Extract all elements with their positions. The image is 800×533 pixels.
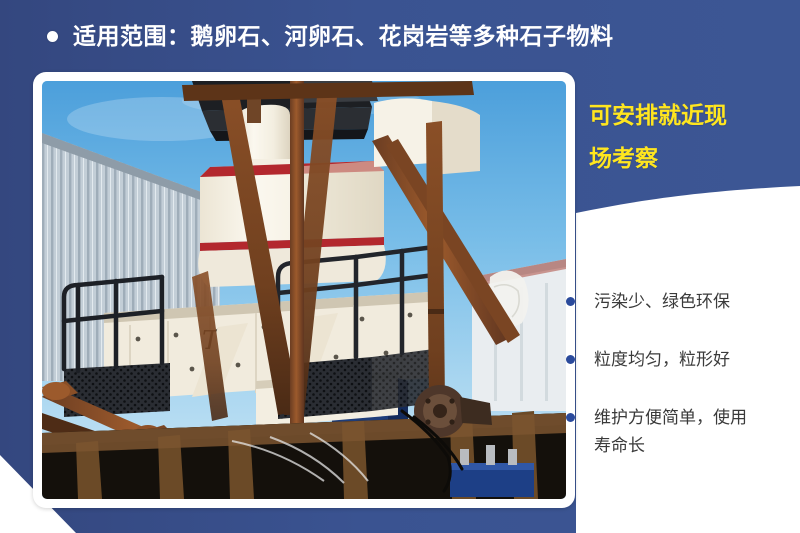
promo-line-2: 场考察: [589, 137, 794, 180]
list-item: 粒度均匀，粒形好: [566, 346, 798, 374]
site-photo: T: [42, 81, 566, 499]
dot-bullet-icon: [566, 355, 575, 364]
promo-line-1: 可安排就近现: [589, 94, 794, 137]
photo-card: T: [33, 72, 575, 508]
dot-bullet-icon: [47, 31, 58, 42]
feature-list: 污染少、绿色环保 粒度均匀，粒形好 维护方便简单，使用 寿命长: [566, 288, 798, 460]
dot-bullet-icon: [566, 413, 575, 422]
feature-label: 污染少、绿色环保: [594, 288, 730, 316]
promo-banner: 适用范围：鹅卵石、河卵石、花岗岩等多种石子物料: [0, 0, 800, 533]
promo-heading: 可安排就近现 场考察: [589, 94, 794, 180]
feature-label: 维护方便简单，使用 寿命长: [594, 404, 747, 460]
feature-label: 粒度均匀，粒形好: [594, 346, 730, 374]
list-item: 污染少、绿色环保: [566, 288, 798, 316]
header-title: 适用范围：鹅卵石、河卵石、花岗岩等多种石子物料: [73, 25, 614, 48]
dot-bullet-icon: [566, 297, 575, 306]
header-bar: 适用范围：鹅卵石、河卵石、花岗岩等多种石子物料: [0, 0, 800, 72]
list-item: 维护方便简单，使用 寿命长: [566, 404, 798, 460]
